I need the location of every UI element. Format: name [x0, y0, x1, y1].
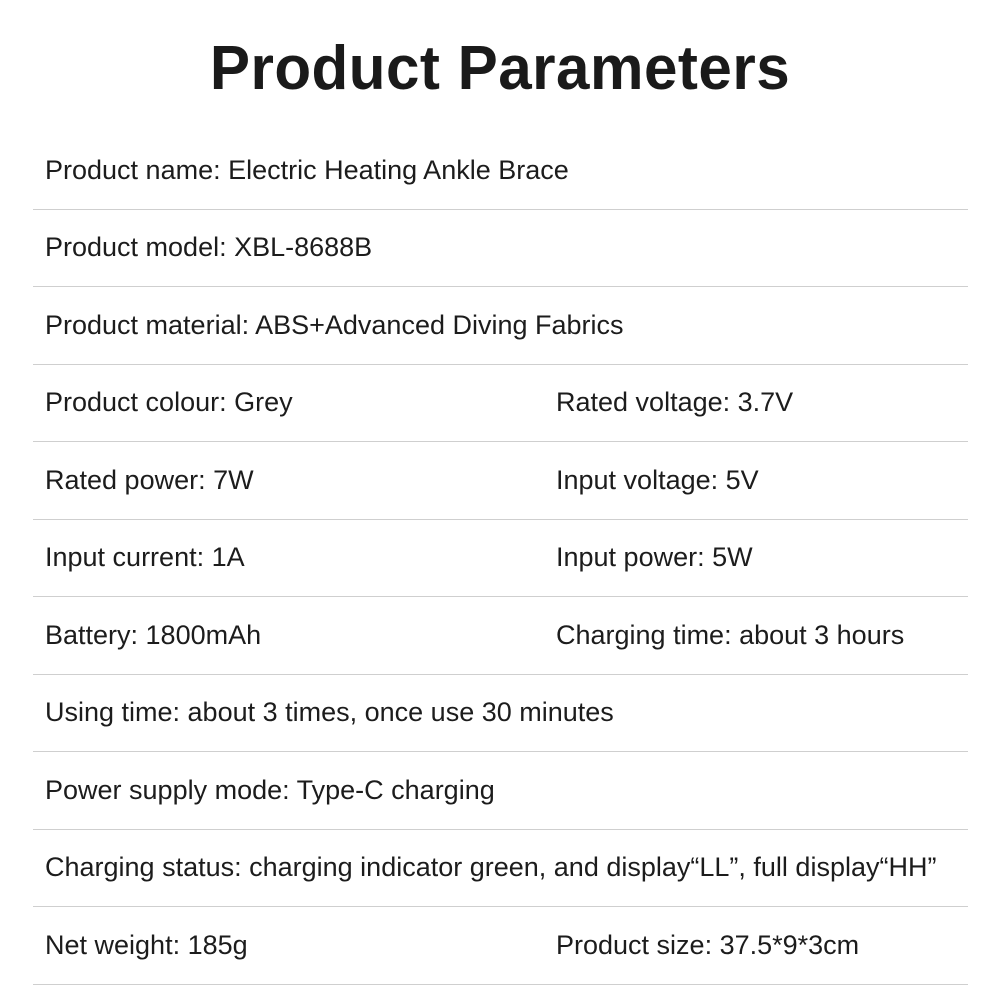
table-row: Product colour: GreyRated voltage: 3.7V: [0, 365, 1000, 443]
table-row: Product material: ABS+Advanced Diving Fa…: [0, 287, 1000, 365]
spec-cell-left: Charging status: charging indicator gree…: [45, 851, 968, 885]
spec-cell-right: Input power: 5W: [556, 541, 968, 575]
spec-cell-left: Product colour: Grey: [45, 386, 556, 420]
table-row: Power supply mode: Type-C charging: [0, 752, 1000, 830]
spec-cell-right: Rated voltage: 3.7V: [556, 386, 968, 420]
title-container: Product Parameters: [0, 0, 1000, 101]
table-row: Product name: Electric Heating Ankle Bra…: [0, 132, 1000, 210]
page-title: Product Parameters: [15, 36, 985, 101]
spec-cell-left: Net weight: 185g: [45, 929, 556, 963]
table-row: Battery: 1800mAhCharging time: about 3 h…: [0, 597, 1000, 675]
spec-cell-right: Input voltage: 5V: [556, 464, 968, 498]
table-row: Net weight: 185gProduct size: 37.5*9*3cm: [0, 907, 1000, 985]
specification-table: Product name: Electric Heating Ankle Bra…: [0, 132, 1000, 985]
spec-cell-left: Power supply mode: Type-C charging: [45, 774, 968, 808]
spec-cell-left: Product model: XBL-8688B: [45, 231, 968, 265]
spec-cell-right: Product size: 37.5*9*3cm: [556, 929, 968, 963]
product-parameters-sheet: Product Parameters Product name: Electri…: [0, 0, 1000, 1000]
table-row: Using time: about 3 times, once use 30 m…: [0, 675, 1000, 753]
table-row: Product model: XBL-8688B: [0, 210, 1000, 288]
spec-cell-left: Product name: Electric Heating Ankle Bra…: [45, 154, 968, 188]
table-row: Input current: 1AInput power: 5W: [0, 520, 1000, 598]
table-row: Rated power: 7WInput voltage: 5V: [0, 442, 1000, 520]
spec-cell-left: Battery: 1800mAh: [45, 619, 556, 653]
table-row: Charging status: charging indicator gree…: [0, 830, 1000, 908]
spec-cell-left: Input current: 1A: [45, 541, 556, 575]
spec-cell-left: Product material: ABS+Advanced Diving Fa…: [45, 309, 968, 343]
spec-cell-right: Charging time: about 3 hours: [556, 619, 968, 653]
spec-cell-left: Using time: about 3 times, once use 30 m…: [45, 696, 968, 730]
spec-cell-left: Rated power: 7W: [45, 464, 556, 498]
